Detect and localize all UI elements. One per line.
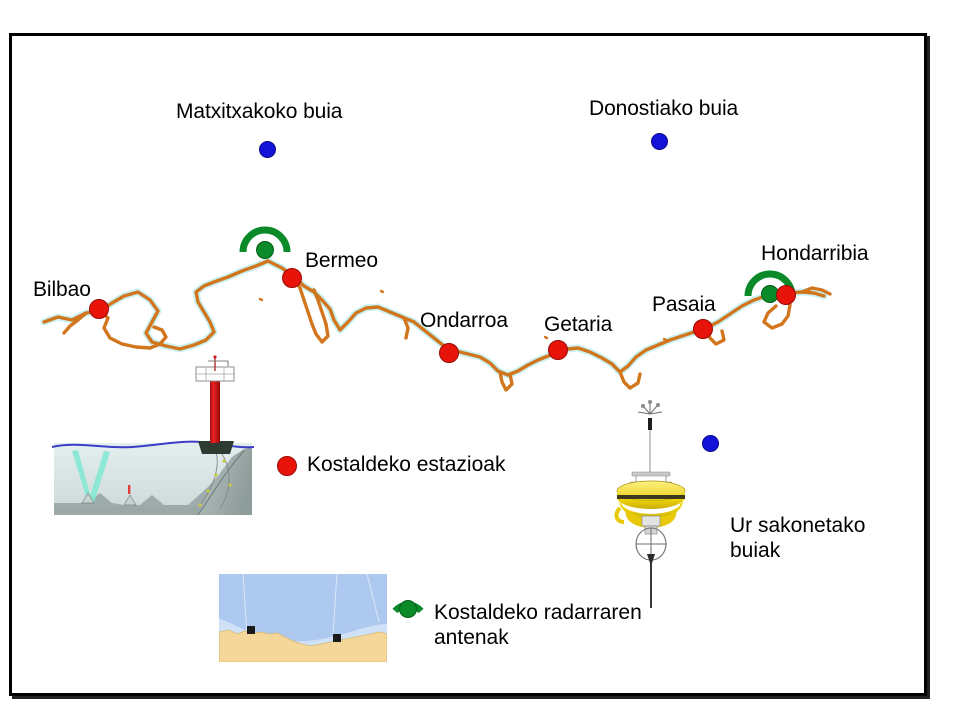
station-marker-getaria[interactable]: [548, 340, 568, 360]
legend-label-coastal-radar-antennas: Kostaldeko radarraren antenak: [434, 600, 642, 650]
legend-label-deep-water-buoys: Ur sakonetako buiak: [730, 513, 865, 563]
radar-marker-matxitxako[interactable]: [256, 241, 274, 259]
legend-label-deep-water-buoys-line2: buiak: [730, 539, 780, 562]
station-marker-ondarroa[interactable]: [439, 343, 459, 363]
legend-label-coastal-stations: Kostaldeko estazioak: [307, 453, 505, 477]
station-marker-bilbao[interactable]: [89, 299, 109, 319]
legend-symbol-coastal-radar-antennas[interactable]: [399, 600, 417, 618]
station-marker-bermeo[interactable]: [282, 268, 302, 288]
deep-water-buoy-thumbnail: [612, 396, 712, 611]
legend-label-coastal-radar-antennas-line1: Kostaldeko radarraren: [434, 601, 642, 624]
legend-label-deep-water-buoys-line1: Ur sakonetako: [730, 514, 865, 537]
buoy-marker-donostia[interactable]: [651, 133, 668, 150]
buoy-marker-matxitxako[interactable]: [259, 141, 276, 158]
radar-coverage-thumbnail: [219, 574, 387, 662]
coastal-station-thumbnail: [48, 355, 258, 520]
legend-symbol-deep-water-buoys[interactable]: [702, 435, 719, 452]
figure-canvas: Matxitxakoko buia Donostiako buia Bilbao…: [0, 0, 960, 720]
station-marker-hondarribia[interactable]: [776, 285, 796, 305]
station-marker-pasaia[interactable]: [693, 319, 713, 339]
legend-label-coastal-radar-antennas-line2: antenak: [434, 626, 509, 649]
legend-symbol-coastal-stations[interactable]: [277, 456, 297, 476]
